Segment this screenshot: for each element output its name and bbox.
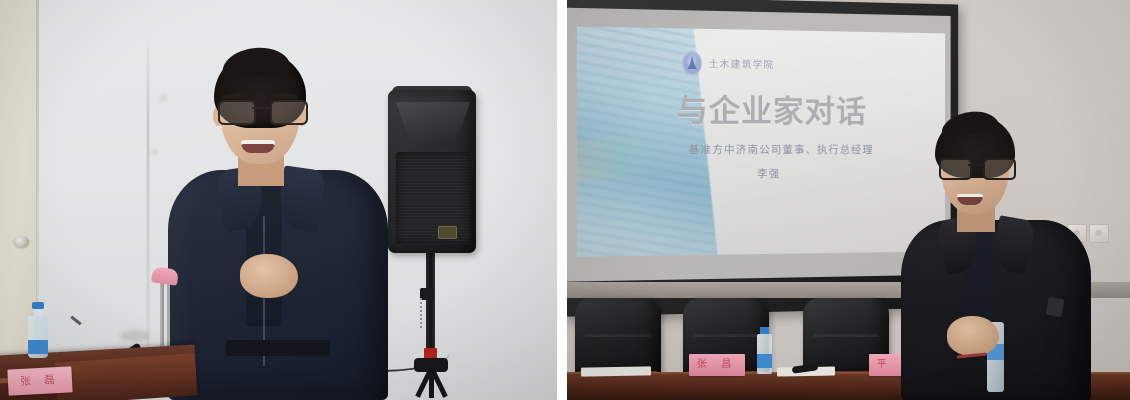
water-bottle — [28, 302, 48, 358]
slide-org-header: 土木建筑学院 — [682, 51, 774, 76]
slide-presenter-name: 李强 — [757, 166, 780, 181]
university-emblem-icon — [682, 51, 701, 76]
clasped-hands — [240, 254, 298, 298]
projection-screen: 土木建筑学院 与企业家对话 基准方中济南公司董事、执行总经理 李强 — [567, 8, 951, 282]
hair-fringe — [221, 46, 291, 79]
glasses-bridge — [252, 107, 272, 109]
bottle-label — [28, 340, 48, 354]
glasses-lens-left — [939, 158, 972, 180]
projection-screen-frame: 土木建筑学院 与企业家对话 基准方中济南公司董事、执行总经理 李强 — [567, 0, 958, 317]
slide-org-name: 土木建筑学院 — [709, 56, 775, 71]
speaker-grille — [396, 152, 470, 244]
name-card-label: 张 磊 — [7, 366, 72, 395]
glasses-bridge — [968, 164, 985, 166]
speaker-stand-pole — [426, 250, 435, 356]
water-bottle — [757, 322, 772, 374]
speaker-badge — [438, 226, 457, 239]
speaker-stand-clamp — [420, 288, 434, 300]
glasses — [937, 158, 1013, 177]
bottle-neck — [34, 308, 42, 316]
mouth — [241, 140, 275, 153]
door-knob — [14, 236, 29, 247]
bottle-cap — [760, 327, 769, 334]
bottle-cap — [32, 302, 44, 309]
mop-head — [151, 266, 179, 285]
name-card: 张 磊 — [7, 366, 72, 395]
paper-sheet — [581, 366, 651, 376]
presentation-slide: 土木建筑学院 与企业家对话 基准方中济南公司董事、执行总经理 李强 — [577, 26, 945, 256]
photo-right[interactable]: 土木建筑学院 与企业家对话 基准方中济南公司董事、执行总经理 李强 — [567, 0, 1130, 400]
wall-smudge — [120, 330, 150, 342]
glasses — [216, 100, 306, 122]
bottle-label — [757, 354, 772, 368]
slide-subtitle: 基准方中济南公司董事、执行总经理 — [689, 142, 874, 157]
glasses-lens-left — [218, 100, 256, 125]
sleeve-patch — [1046, 297, 1065, 318]
slide-title: 与企业家对话 — [676, 85, 867, 131]
photo-left[interactable]: 张 磊 — [0, 0, 557, 400]
belt — [226, 340, 330, 356]
hands — [947, 316, 999, 356]
name-card: 张 昌 — [689, 354, 745, 376]
left-speaker-person — [168, 40, 388, 400]
wall-smudge — [160, 96, 167, 101]
speaker-stand-chain — [420, 298, 422, 328]
glasses-lens-right — [270, 100, 308, 125]
right-speaker-person — [901, 110, 1091, 400]
wall-smudge — [152, 150, 158, 154]
name-card-label: 张 昌 — [689, 354, 745, 376]
mouth — [957, 194, 983, 205]
photo-divider — [557, 0, 567, 400]
glasses-lens-right — [983, 158, 1016, 180]
photo-gallery: 张 磊 土木建筑学院 与企业家对话 基准方中济南公司董事、执行总经理 李 — [0, 0, 1130, 400]
wall-outlet — [1089, 224, 1109, 243]
